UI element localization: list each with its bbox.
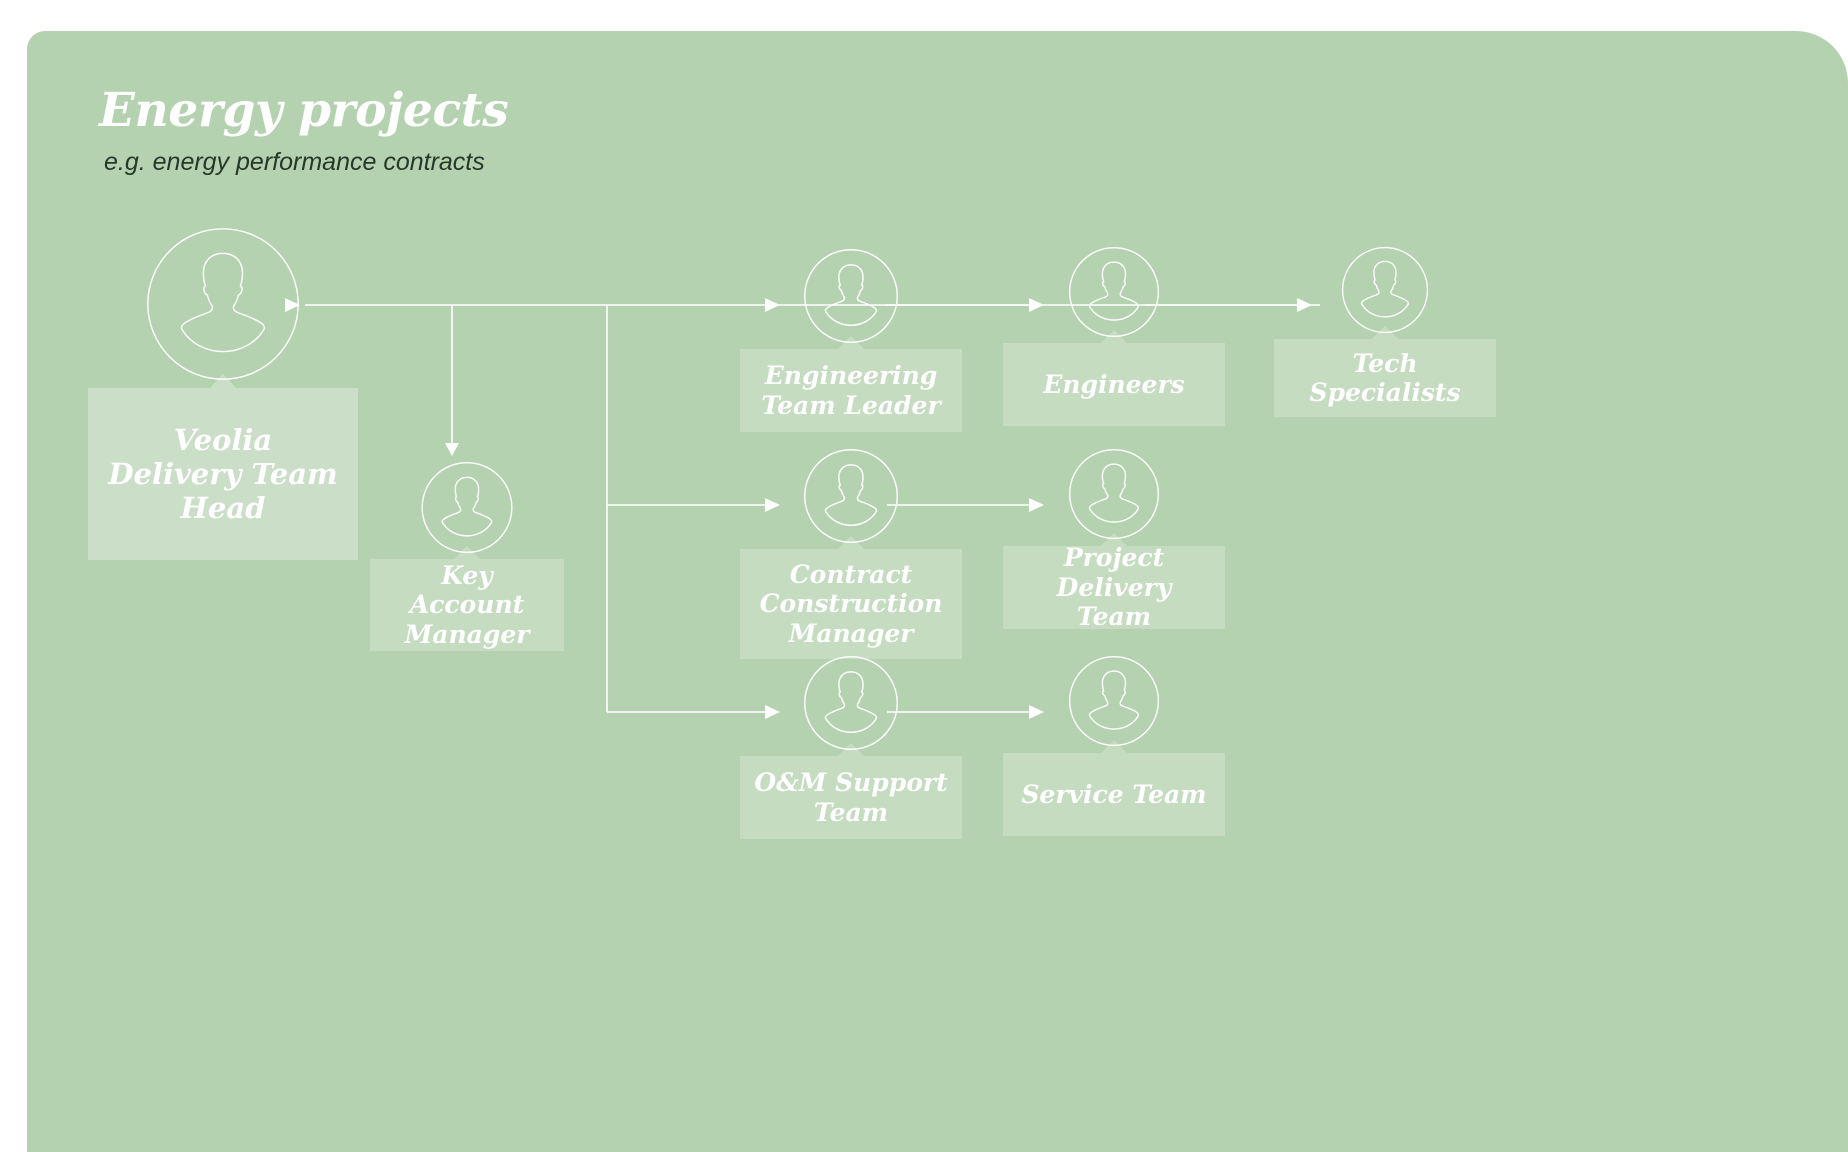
page-subtitle: e.g. energy performance contracts xyxy=(104,148,508,177)
label-notch xyxy=(1101,330,1127,343)
node-label: Project Delivery Team xyxy=(1013,543,1215,632)
diagram-stage: Energy projects e.g. energy performance … xyxy=(0,0,1848,1152)
node-label-box: Key Account Manager xyxy=(370,559,564,651)
node-label-box: Tech Specialists xyxy=(1274,339,1496,417)
diagram-card: Energy projects e.g. energy performance … xyxy=(27,31,1848,1152)
person-avatar-icon xyxy=(1068,655,1160,747)
label-notch xyxy=(838,536,864,549)
page-title: Energy projects xyxy=(99,86,508,135)
node-label: Tech Specialists xyxy=(1309,349,1460,408)
person-avatar-icon xyxy=(145,226,301,382)
node-label: Engineering Team Leader xyxy=(761,361,940,420)
node-label: Service Team xyxy=(1021,780,1206,810)
label-notch xyxy=(1372,326,1398,339)
person-avatar-icon xyxy=(1068,246,1160,338)
person-avatar-icon xyxy=(1341,246,1429,334)
person-avatar-icon xyxy=(421,461,514,554)
node-label: Contract Construction Manager xyxy=(760,560,943,649)
node-label: Engineers xyxy=(1043,370,1184,400)
node-label-box: O&M Support Team xyxy=(740,756,962,839)
header: Energy projects e.g. energy performance … xyxy=(99,86,508,177)
person-avatar-icon xyxy=(803,448,899,544)
node-label: Key Account Manager xyxy=(380,561,554,650)
label-notch xyxy=(838,743,864,756)
node-label-box: Engineers xyxy=(1003,343,1225,426)
label-notch xyxy=(210,374,236,388)
node-label-box: Service Team xyxy=(1003,753,1225,836)
node-label: Veolia Delivery Team Head xyxy=(108,423,337,526)
label-notch xyxy=(838,336,864,349)
label-notch xyxy=(1101,740,1127,753)
label-notch xyxy=(454,546,480,559)
node-label-box: Project Delivery Team xyxy=(1003,546,1225,629)
node-label-box: Contract Construction Manager xyxy=(740,549,962,659)
person-avatar-icon xyxy=(1068,448,1160,540)
node-label-box: Engineering Team Leader xyxy=(740,349,962,432)
node-label-box: Veolia Delivery Team Head xyxy=(88,388,358,560)
person-avatar-icon xyxy=(803,248,899,344)
person-avatar-icon xyxy=(803,655,899,751)
node-label: O&M Support Team xyxy=(754,768,947,827)
